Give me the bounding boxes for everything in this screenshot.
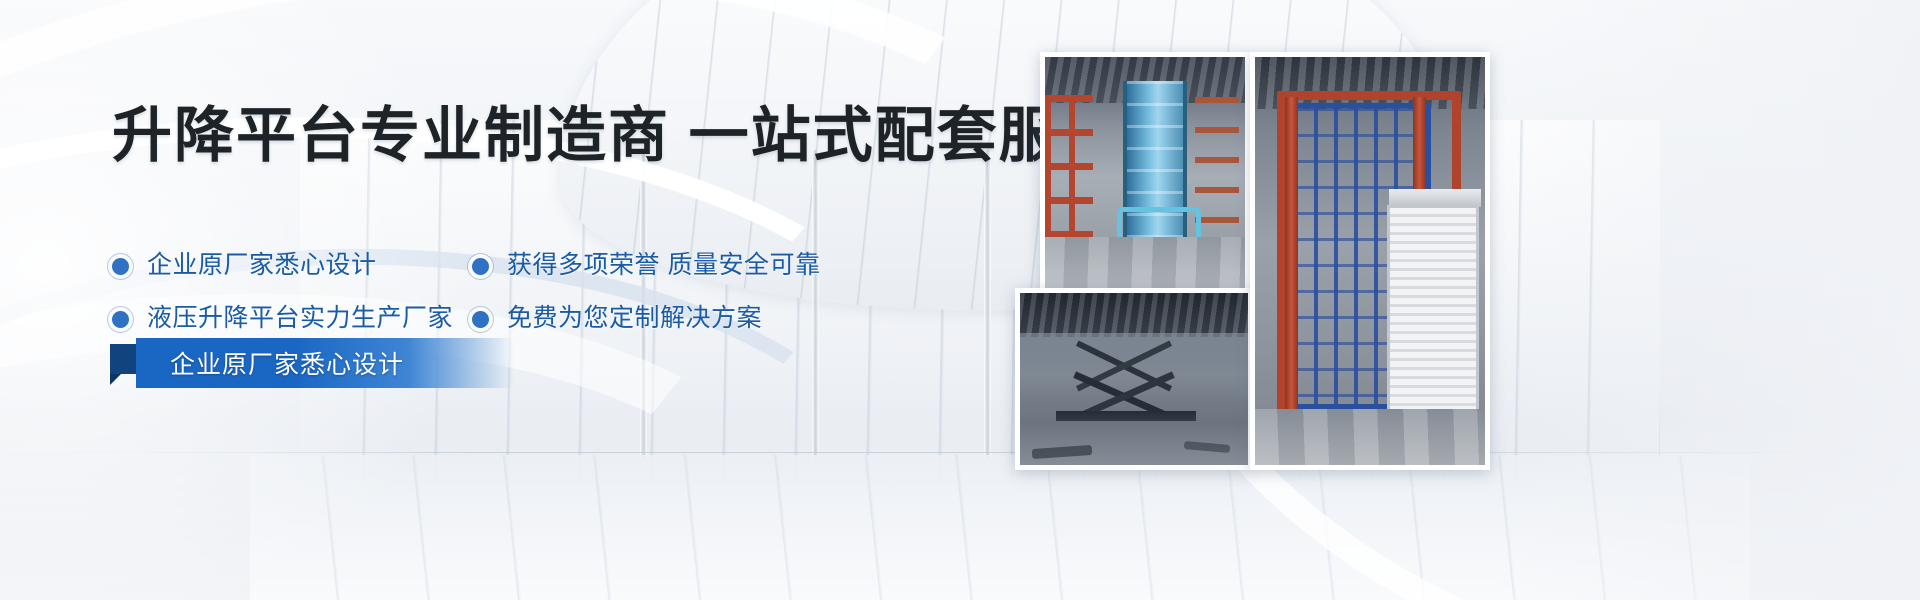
photo-artwork — [1020, 293, 1248, 465]
list-item: 获得多项荣誉 质量安全可靠 — [472, 250, 952, 281]
ribbon-label: 企业原厂家悉心设计 — [170, 345, 404, 381]
bullet-dot-icon — [472, 311, 489, 328]
bullet-dot-icon — [112, 258, 129, 275]
photo-artwork — [1045, 57, 1245, 289]
right-fade — [1500, 0, 1920, 600]
page-title: 升降平台专业制造商 一站式配套服务 — [112, 106, 1123, 166]
banner-copy: 升降平台专业制造商 一站式配套服务 企业原厂家悉心设计 获得多项荣誉 质量安全可… — [0, 0, 1040, 600]
list-item: 企业原厂家悉心设计 — [112, 250, 472, 281]
photo-artwork — [1255, 57, 1485, 465]
ribbon-bar[interactable]: 企业原厂家悉心设计 — [136, 338, 514, 388]
promo-banner: 升降平台专业制造商 一站式配套服务 企业原厂家悉心设计 获得多项荣誉 质量安全可… — [0, 0, 1920, 600]
list-item-label: 获得多项荣誉 质量安全可靠 — [507, 250, 820, 281]
list-item-label: 液压升降平台实力生产厂家 — [147, 303, 453, 334]
list-item-label: 免费为您定制解决方案 — [507, 303, 762, 334]
bullet-dot-icon — [112, 311, 129, 328]
bullet-dot-icon — [472, 258, 489, 275]
product-photo-lift-platform — [1040, 52, 1250, 294]
list-item-label: 企业原厂家悉心设计 — [147, 250, 377, 281]
list-item: 液压升降平台实力生产厂家 — [112, 303, 472, 334]
feature-row: 企业原厂家悉心设计 获得多项荣誉 质量安全可靠 — [112, 250, 992, 281]
product-photo-cargo-lift — [1250, 52, 1490, 470]
list-item: 免费为您定制解决方案 — [472, 303, 952, 334]
product-photo-scissor-lift — [1015, 288, 1253, 470]
feature-row: 液压升降平台实力生产厂家 免费为您定制解决方案 — [112, 303, 992, 334]
product-photo-group — [1010, 0, 1510, 600]
